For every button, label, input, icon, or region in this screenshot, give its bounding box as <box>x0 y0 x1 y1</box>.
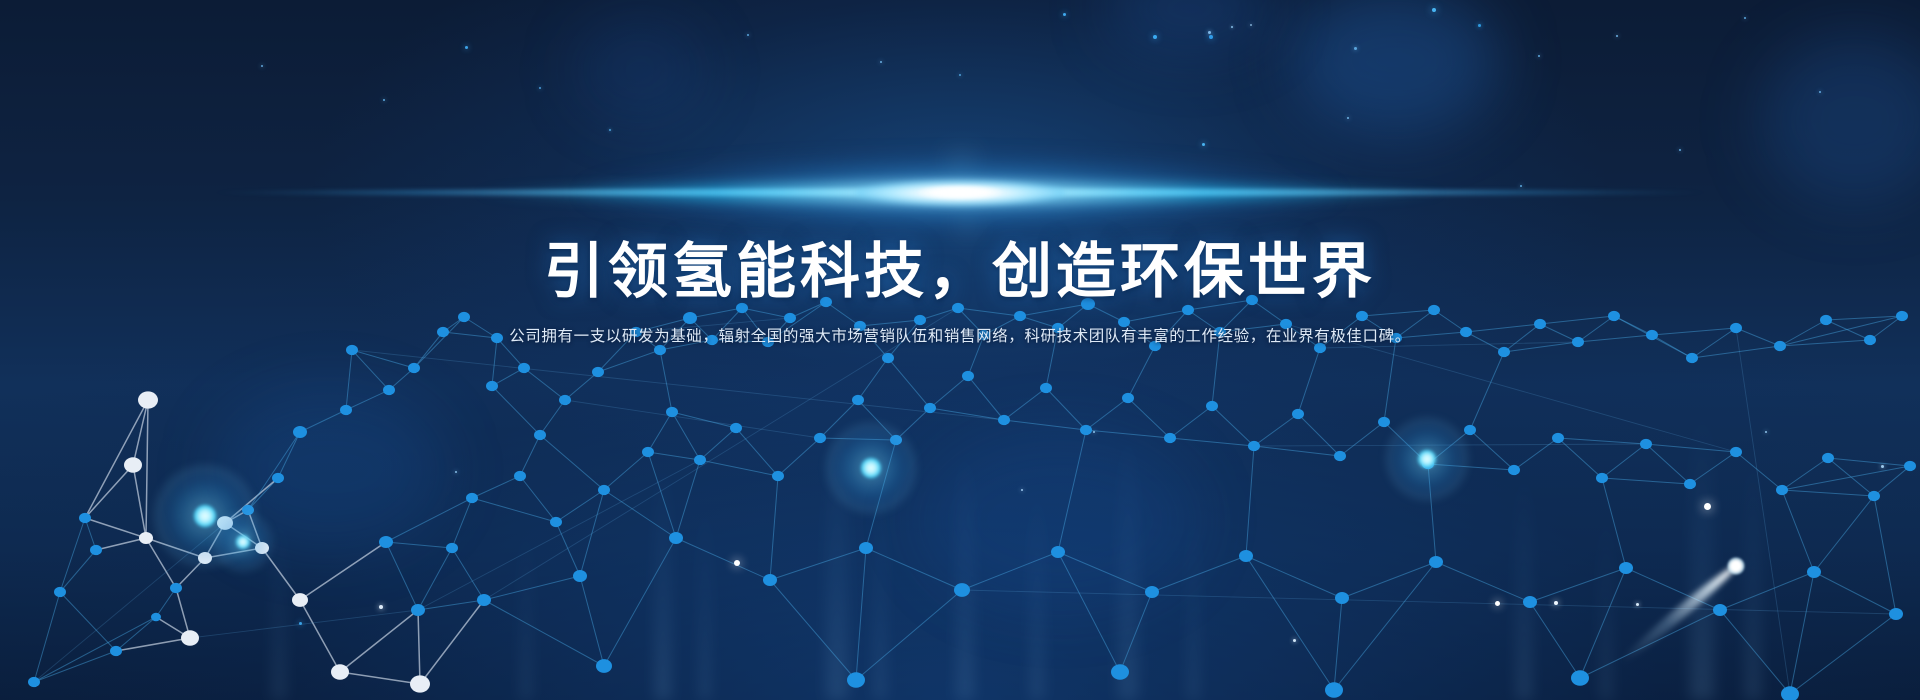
mesh-edge <box>1298 414 1340 456</box>
mesh-edge <box>205 548 262 558</box>
mesh-node <box>669 532 683 544</box>
particle-dot <box>1478 24 1481 27</box>
mesh-edge <box>1004 388 1046 420</box>
mesh-node <box>998 415 1010 425</box>
mesh-edge-long <box>565 400 820 438</box>
mesh-node <box>573 570 587 582</box>
mesh-edge <box>352 350 389 390</box>
mesh-edge <box>116 638 190 651</box>
mesh-node <box>1686 353 1698 363</box>
mesh-edge <box>1602 444 1646 478</box>
mesh-edge <box>1782 490 1874 496</box>
mesh-edge <box>520 476 556 522</box>
mesh-node <box>598 485 610 495</box>
mesh-edge <box>866 548 962 590</box>
mesh-edge <box>484 600 604 666</box>
particle-dot <box>1538 55 1540 57</box>
mesh-node <box>550 517 562 527</box>
mesh-edge <box>484 576 580 600</box>
mesh-node <box>1498 347 1510 357</box>
mesh-node <box>592 367 604 377</box>
mesh-edge <box>1384 338 1396 422</box>
mesh-edge <box>888 358 930 408</box>
mesh-edge <box>962 552 1058 590</box>
mesh-edge <box>676 538 770 580</box>
mesh-node <box>518 363 530 373</box>
particle-dot <box>1432 8 1436 12</box>
mesh-edge <box>540 435 604 490</box>
mesh-node <box>255 542 269 554</box>
mesh-node <box>410 675 430 692</box>
mesh-edge <box>1428 464 1436 562</box>
mesh-edge <box>386 498 472 542</box>
mesh-edge <box>146 400 148 538</box>
mesh-node <box>446 543 458 553</box>
particle-dot <box>747 34 749 36</box>
mesh-node <box>1781 686 1799 700</box>
mesh-edge <box>146 538 205 558</box>
mesh-edge <box>386 542 452 548</box>
mesh-edge <box>896 408 930 440</box>
mesh-node <box>847 672 865 687</box>
mesh-edge <box>133 465 146 538</box>
mesh-node <box>383 385 395 395</box>
mesh-node <box>90 545 102 555</box>
page-title: 引领氢能科技，创造环保世界 <box>0 240 1920 305</box>
mesh-node <box>1429 556 1443 568</box>
mesh-edge <box>580 576 604 666</box>
mesh-node <box>962 371 974 381</box>
mesh-node <box>28 677 40 687</box>
glow-blob <box>575 20 705 120</box>
mesh-edge <box>648 452 700 460</box>
mesh-node <box>882 353 894 363</box>
mesh-edge <box>770 476 778 580</box>
mesh-edge-long <box>484 308 958 600</box>
mesh-edge <box>1428 464 1514 470</box>
mesh-node <box>1464 425 1476 435</box>
mesh-edge <box>1334 598 1342 690</box>
mesh-edge <box>1814 496 1874 572</box>
mesh-node <box>772 471 784 481</box>
mesh-edge <box>146 538 176 588</box>
mesh-edge <box>604 538 676 666</box>
hero-subtitle: 公司拥有一支以研发为基础，辐射全国的强大市场营销队伍和销售网络，科研技术团队有丰… <box>0 325 1920 348</box>
mesh-edge <box>1874 466 1910 496</box>
mesh-node <box>514 471 526 481</box>
mesh-node <box>924 403 936 413</box>
mesh-edge <box>1128 346 1155 398</box>
mesh-node <box>1904 461 1916 471</box>
mesh-node <box>198 552 212 564</box>
mesh-edge <box>278 432 300 478</box>
mesh-edge <box>1874 496 1896 614</box>
mesh-edge <box>472 498 556 522</box>
mesh-edge <box>968 376 1004 420</box>
particle-dot <box>539 87 541 89</box>
mesh-node <box>1145 586 1159 598</box>
mesh-edge <box>1170 406 1212 438</box>
mesh-edge <box>1246 556 1342 598</box>
mesh-node <box>124 457 142 472</box>
mesh-edge <box>820 438 896 440</box>
particle-dot <box>1063 13 1066 16</box>
mesh-edge <box>1436 562 1530 602</box>
particle-dot <box>1208 31 1211 34</box>
mesh-edge <box>1246 446 1254 556</box>
mesh-node <box>1334 451 1346 461</box>
mesh-edge <box>116 617 156 651</box>
mesh-edge <box>352 350 414 368</box>
mesh-node <box>1730 447 1742 457</box>
mesh-edge <box>262 548 300 600</box>
mesh-edge <box>1814 572 1896 614</box>
mesh-edge <box>1530 568 1626 602</box>
mesh-edge <box>96 538 146 550</box>
mesh-edge <box>1340 422 1384 456</box>
mesh-node <box>170 583 182 593</box>
mesh-edge <box>1212 406 1254 446</box>
mesh-node <box>694 455 706 465</box>
mesh-node <box>466 493 478 503</box>
mesh-edge <box>598 350 660 372</box>
mesh-edge <box>1690 452 1736 484</box>
mesh-edge <box>1058 552 1120 672</box>
mesh-node <box>1571 670 1589 685</box>
mesh-edge <box>1128 398 1170 438</box>
mesh-edge <box>34 592 60 682</box>
mesh-edge-long <box>190 610 418 638</box>
mesh-edge <box>418 610 420 684</box>
mesh-edge <box>866 440 896 548</box>
lens-flare <box>0 150 1920 236</box>
mesh-edge <box>300 410 346 432</box>
mesh-node <box>292 593 308 607</box>
mesh-edge <box>1828 458 1910 466</box>
mesh-node <box>1122 393 1134 403</box>
mesh-node <box>596 659 612 673</box>
mesh-edge <box>300 542 386 600</box>
mesh-node <box>181 630 199 645</box>
mesh-node <box>1640 439 1652 449</box>
mesh-edge <box>133 400 148 465</box>
mesh-edge <box>1086 398 1128 430</box>
mesh-edge <box>346 390 389 410</box>
mesh-edge <box>930 376 968 408</box>
particle-dot <box>1153 35 1157 39</box>
mesh-node <box>1164 433 1176 443</box>
mesh-node <box>666 407 678 417</box>
mesh-node <box>331 664 349 679</box>
mesh-edge <box>770 580 856 680</box>
mesh-node <box>1335 592 1349 604</box>
particle-dot <box>1347 117 1349 119</box>
mesh-node <box>242 505 254 515</box>
mesh-edge <box>340 672 420 684</box>
mesh-edge <box>1580 568 1626 678</box>
mesh-node <box>1868 491 1880 501</box>
particle-dot <box>1354 47 1357 50</box>
mesh-edge <box>1120 592 1152 672</box>
mesh-edge <box>1004 420 1086 430</box>
mesh-edge <box>1428 430 1470 464</box>
mesh-edge <box>856 590 962 680</box>
mesh-node <box>272 473 284 483</box>
mesh-edge <box>248 432 300 510</box>
mesh-edge <box>1170 438 1254 446</box>
mesh-node <box>1080 425 1092 435</box>
mesh-edge <box>700 428 736 460</box>
mesh-edge <box>85 518 146 538</box>
mesh-edge <box>540 400 565 435</box>
mesh-node <box>1713 604 1727 616</box>
mesh-edge <box>420 600 484 684</box>
mesh-edge <box>1254 414 1298 446</box>
particle-dot <box>880 61 882 63</box>
mesh-node <box>151 613 161 622</box>
particle-dot <box>1202 143 1205 146</box>
mesh-edge <box>1790 614 1896 694</box>
mesh-node <box>1422 459 1434 469</box>
mesh-edge <box>1646 444 1690 484</box>
particle-dot <box>609 129 611 131</box>
mesh-node <box>730 423 742 433</box>
mesh-edge-long <box>418 460 700 610</box>
particle-dot <box>1744 17 1746 19</box>
mesh-edge <box>676 460 700 538</box>
mesh-node <box>1239 550 1253 562</box>
mesh-node <box>890 435 902 445</box>
particle-dot <box>465 46 468 49</box>
mesh-edge <box>472 476 520 498</box>
mesh-node <box>1292 409 1304 419</box>
mesh-edge <box>1254 446 1340 456</box>
mesh-edge <box>225 478 278 523</box>
mesh-edge <box>1470 352 1504 430</box>
mesh-node <box>411 604 425 616</box>
mesh-node <box>559 395 571 405</box>
mesh-edge <box>60 518 85 592</box>
mesh-edge <box>60 550 96 592</box>
mesh-node <box>1822 453 1834 463</box>
mesh-node <box>1508 465 1520 475</box>
mesh-node <box>477 594 491 606</box>
mesh-edge <box>492 386 540 435</box>
hero-text-block: 引领氢能科技，创造环保世界 公司拥有一支以研发为基础，辐射全国的强大市场营销队伍… <box>0 240 1920 348</box>
mesh-edge <box>452 498 472 548</box>
particle-dot <box>1209 35 1213 39</box>
mesh-edge <box>604 490 676 538</box>
mesh-node <box>763 574 777 586</box>
mesh-edge <box>524 368 565 400</box>
mesh-edge <box>386 542 418 610</box>
mesh-edge <box>1384 422 1428 464</box>
mesh-node <box>1111 664 1129 679</box>
mesh-node <box>1552 433 1564 443</box>
mesh-edge <box>1782 490 1814 572</box>
mesh-edge <box>346 350 352 410</box>
mesh-edge <box>858 358 888 400</box>
mesh-edge <box>1530 602 1580 678</box>
mesh-edge <box>1720 572 1814 610</box>
mesh-edge <box>856 548 866 680</box>
flare-core <box>918 186 1002 199</box>
mesh-edge <box>1514 438 1558 470</box>
mesh-edge <box>820 400 858 438</box>
mesh-node <box>852 395 864 405</box>
mesh-node <box>293 426 307 438</box>
mesh-edge <box>648 412 672 452</box>
mesh-node <box>379 536 393 548</box>
mesh-edge <box>452 548 484 600</box>
mesh-node <box>642 447 654 457</box>
mesh-edge-long <box>34 523 225 682</box>
mesh-node <box>1776 485 1788 495</box>
mesh-node <box>1248 441 1260 451</box>
mesh-node <box>110 646 122 656</box>
mesh-edge <box>604 452 648 490</box>
mesh-edge <box>1086 430 1170 438</box>
mesh-node <box>217 516 233 530</box>
mesh-node <box>340 405 352 415</box>
mesh-node <box>954 583 970 597</box>
mesh-edge <box>1246 556 1334 690</box>
particle-dot <box>1616 35 1618 37</box>
mesh-edge <box>660 350 672 412</box>
mesh-node <box>1040 383 1052 393</box>
particle-dot <box>959 74 961 76</box>
mesh-node <box>1807 566 1821 578</box>
mesh-edge <box>778 438 820 476</box>
mesh-edge <box>1058 430 1086 552</box>
particle-dot <box>383 99 385 101</box>
mesh-node <box>1619 562 1633 574</box>
mesh-node <box>1206 401 1218 411</box>
mesh-edge <box>1470 430 1514 470</box>
mesh-node <box>1051 546 1065 558</box>
mesh-edge <box>340 610 418 672</box>
mesh-node <box>54 587 66 597</box>
mesh-edge <box>770 548 866 580</box>
mesh-edge <box>34 617 156 682</box>
particle-dot <box>1231 26 1233 28</box>
particle-dot <box>1250 24 1252 26</box>
mesh-edge <box>1790 572 1814 694</box>
mesh-node <box>486 381 498 391</box>
mesh-edge <box>60 592 116 651</box>
mesh-node <box>1523 596 1537 608</box>
mesh-edge-long <box>962 590 1896 614</box>
mesh-node <box>139 532 153 544</box>
mesh-node <box>1684 479 1696 489</box>
mesh-node <box>138 391 158 408</box>
mesh-node <box>1325 682 1343 697</box>
mesh-edge <box>300 600 340 672</box>
mesh-edge <box>520 435 540 476</box>
mesh-edge <box>672 412 736 428</box>
mesh-edge <box>1602 478 1626 568</box>
mesh-edge <box>930 408 1004 420</box>
mesh-edge <box>1152 556 1246 592</box>
mesh-edge <box>34 651 116 682</box>
particle-dot <box>1819 91 1821 93</box>
mesh-node <box>408 363 420 373</box>
mesh-edge <box>1558 438 1646 444</box>
mesh-node <box>814 433 826 443</box>
mesh-edge <box>1602 478 1690 484</box>
mesh-edge <box>1298 348 1320 414</box>
mesh-node <box>1378 417 1390 427</box>
mesh-node <box>1889 608 1903 620</box>
particle-dot <box>261 65 263 67</box>
mesh-edge-long <box>352 350 1004 420</box>
mesh-edge <box>1058 552 1152 592</box>
glow-blob <box>1105 0 1275 56</box>
mesh-node <box>859 542 873 554</box>
mesh-edge <box>1046 388 1086 430</box>
mesh-node <box>534 430 546 440</box>
mesh-node <box>1596 473 1608 483</box>
hero-banner: 引领氢能科技，创造环保世界 公司拥有一支以研发为基础，辐射全国的强大市场营销队伍… <box>0 0 1920 700</box>
mesh-edge <box>648 452 676 538</box>
mesh-node <box>79 513 91 523</box>
glow-blob <box>1290 0 1500 135</box>
mesh-edge <box>1782 466 1910 490</box>
